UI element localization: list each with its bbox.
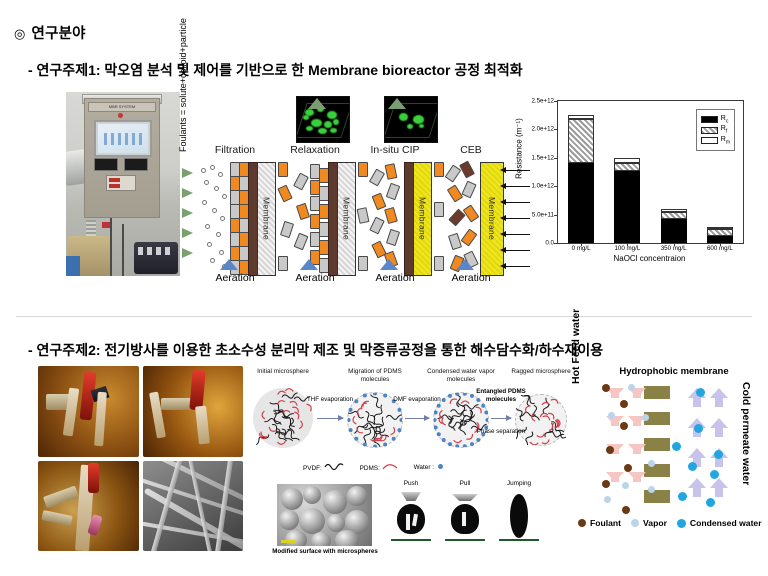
vapor-dot xyxy=(622,482,629,489)
particle-dot xyxy=(207,242,212,247)
pvdf-chain xyxy=(264,417,280,424)
chart-legend-swatch xyxy=(701,137,718,144)
panel-filtration: Filtration xyxy=(196,140,274,300)
pdms-chain xyxy=(307,403,313,411)
aeration-label: Aeration xyxy=(432,272,510,284)
page-title-text: 연구분야 xyxy=(32,26,86,42)
chart-bar-segment-Rm xyxy=(661,209,687,212)
water-molecule-dot xyxy=(397,428,401,432)
condensed-water-dot xyxy=(678,492,687,501)
water-molecule-dot xyxy=(354,437,358,441)
chart-y-tick-mark xyxy=(554,101,558,102)
chart-x-tick-label: 600 mg/L xyxy=(700,245,740,252)
microsphere-particle xyxy=(311,532,331,546)
water-molecule-dot xyxy=(399,418,402,422)
md-legend: Foulant Vapor Condensed water xyxy=(578,518,768,528)
condensed-water-dot xyxy=(706,498,715,507)
foulant-block xyxy=(293,173,309,191)
md-left-label: Hot Feed water xyxy=(570,264,582,384)
foulant-block xyxy=(386,183,401,201)
panel-relaxation: Relaxation xyxy=(276,140,354,300)
foulant-block xyxy=(278,162,288,177)
foulant-block xyxy=(296,203,310,220)
droplet-pull: Pull xyxy=(437,490,493,546)
digital-meter-2 xyxy=(124,158,148,171)
pvdf-chain xyxy=(458,401,468,417)
sem-scale-bar xyxy=(281,540,295,543)
foulant-block xyxy=(280,221,294,238)
microsphere-particle xyxy=(281,488,303,510)
chart-legend: RcRfRm xyxy=(696,109,735,151)
particle-dot xyxy=(205,224,210,229)
panel-title: In-situ CIP xyxy=(356,144,434,156)
droplet-substrate xyxy=(499,539,539,541)
aeration-arrow-icon xyxy=(220,259,238,270)
chart-bar-segment-Rf xyxy=(614,163,640,172)
foulant-dot xyxy=(620,400,628,408)
membrane-label: Membrane xyxy=(337,162,356,276)
chart-legend-label: Rc xyxy=(721,115,729,124)
chart-legend-label: Rf xyxy=(721,125,727,134)
water-molecule-dot xyxy=(448,442,452,446)
chart-y-tick-label: 5.0e+11 xyxy=(532,211,554,218)
cake-layer-column-2 xyxy=(319,162,328,274)
droplet-substrate xyxy=(391,539,431,541)
process-arrow-label-entangled: Entangled PDMS molecules xyxy=(470,388,532,404)
sem-caption: Modified surface with microspheres xyxy=(265,548,385,555)
condensed-water-dot-icon xyxy=(677,519,686,528)
step-caption: Ragged microsphere xyxy=(501,368,581,376)
pdms-chain xyxy=(531,413,535,421)
foulant-block xyxy=(358,256,368,271)
membrane-block xyxy=(644,464,670,477)
foulant-dot xyxy=(624,464,632,472)
cake-layer-column-1 xyxy=(310,162,319,274)
vapor-dot xyxy=(628,384,635,391)
particle-dot xyxy=(220,216,225,221)
water-molecule-dot xyxy=(349,408,353,412)
legend-pvdf: PVDF: xyxy=(303,462,346,472)
aeration-label: Aeration xyxy=(356,272,434,284)
up-arrow-icon xyxy=(308,98,326,109)
water-molecule-dot xyxy=(442,438,446,442)
indicator-led xyxy=(118,113,123,118)
vapor-dot-icon xyxy=(631,519,639,527)
chart-x-tick-label: 0 mg/L xyxy=(561,245,601,252)
water-molecule-dot xyxy=(348,418,351,422)
foulant-dot xyxy=(602,480,610,488)
condensed-water-dot xyxy=(688,462,697,471)
vapor-dot xyxy=(604,496,611,503)
membrane-block xyxy=(644,438,670,451)
pdms-chain xyxy=(441,417,446,425)
feed-flow-arrow xyxy=(182,168,193,178)
md-legend-vapor: Vapor xyxy=(631,518,667,528)
electrospinning-photo-collage xyxy=(38,366,243,551)
aeration-label: Aeration xyxy=(276,272,354,284)
panel-title: CEB xyxy=(432,144,510,156)
pvdf-chain xyxy=(386,415,402,420)
pdms-chain xyxy=(352,416,356,424)
droplet-notch xyxy=(462,512,466,526)
process-arrow xyxy=(491,418,511,419)
water-molecule-dot xyxy=(463,393,467,396)
chart-bar-segment-Rc xyxy=(707,236,733,243)
process-arrow-label: THF evaporation xyxy=(299,396,361,404)
water-molecule-dot xyxy=(455,444,459,447)
switch-block xyxy=(106,175,136,191)
digital-meter-1 xyxy=(94,158,118,171)
hmi-screen-content xyxy=(98,124,148,153)
microsphere-particle xyxy=(303,486,321,504)
md-legend-row: Foulant Vapor Condensed water xyxy=(578,518,768,528)
blue-drum xyxy=(66,256,80,276)
pdms-chain xyxy=(524,405,530,413)
pdms-chain xyxy=(290,400,298,405)
chart-y-tick-mark xyxy=(554,186,558,187)
chart-bar-segment-Rf xyxy=(568,119,594,163)
chart-y-tick-mark xyxy=(554,158,558,159)
condensed-water-dot xyxy=(714,450,723,459)
pdms-chain xyxy=(292,406,300,413)
foulant-dot-icon xyxy=(578,519,586,527)
chart-legend-item: Rc xyxy=(701,115,730,124)
chart-y-tick-label: 2.0e+12 xyxy=(531,126,554,133)
water-molecule-dot xyxy=(476,438,480,442)
surface-and-droplet-row: Modified surface with microspheres Push … xyxy=(265,478,515,560)
foulant-block xyxy=(461,181,476,199)
droplet-notch xyxy=(406,514,410,530)
sem-modified-surface-image xyxy=(277,484,372,546)
process-arrow xyxy=(405,418,429,419)
md-title: Hydrophobic membrane xyxy=(604,366,744,377)
red-cable xyxy=(189,370,205,411)
foulant-block xyxy=(461,228,478,246)
chart-bar-segment-Rm xyxy=(707,227,733,230)
foulant-block xyxy=(277,185,292,203)
water-molecule-dot xyxy=(373,444,377,447)
cake-layer-column-2 xyxy=(239,162,248,274)
biofilm-cluster xyxy=(324,121,332,128)
aeration-label: Aeration xyxy=(196,272,274,284)
chart-x-axis-label: NaOCl concentraion xyxy=(557,254,742,263)
microsphere-formation-mechanism-diagram: Initial microsphere Migration of PDMS mo… xyxy=(243,366,573,478)
chart-x-tick-mark xyxy=(674,243,675,246)
water-molecule-dot xyxy=(349,428,353,432)
foulant-block xyxy=(294,233,309,251)
feed-flow-arrow xyxy=(182,188,193,198)
droplet-label: Push xyxy=(383,480,439,487)
water-molecule-dot xyxy=(383,442,387,446)
water-molecule-dot xyxy=(437,404,441,408)
aeration-arrow-icon xyxy=(456,259,474,270)
pdms-chain xyxy=(542,440,550,445)
step-caption: Migration of PDMS molecules xyxy=(335,368,415,384)
pdms-chain xyxy=(449,397,457,404)
biofilm-cluster xyxy=(407,124,413,129)
water-molecule-dot xyxy=(392,437,396,441)
microsphere-particle xyxy=(335,530,359,546)
vapor-dot xyxy=(648,486,655,493)
process-arrow-label-phase: Phase separation xyxy=(470,428,532,436)
pdms-chain xyxy=(530,442,538,445)
chart-y-tick-label: 1.5e+12 xyxy=(531,154,554,161)
topic2-heading: - 연구주제2: 전기방사를 이용한 초소수성 분리막 제조 및 막증류공정을 … xyxy=(28,340,603,360)
membrane-block xyxy=(644,386,670,399)
water-molecule-dot xyxy=(481,404,485,408)
chart-y-tick-mark xyxy=(554,243,558,244)
water-droplet-shape xyxy=(397,504,425,534)
pdms-chain xyxy=(543,415,551,421)
feed-flow-arrow xyxy=(182,208,193,218)
red-cable xyxy=(88,463,99,493)
droplet-substrate xyxy=(445,539,485,541)
pvdf-squiggle-icon xyxy=(324,462,346,470)
chart-bar-segment-Rf xyxy=(661,212,687,219)
chart-y-tick-mark xyxy=(554,215,558,216)
pvdf-chain xyxy=(450,410,466,415)
up-arrow-icon xyxy=(388,98,406,109)
particle-dot xyxy=(218,172,223,177)
droplet-jumping: Jumping xyxy=(491,490,547,546)
panel-title: Filtration xyxy=(196,144,274,156)
particle-dot xyxy=(216,232,221,237)
pdms-chain xyxy=(357,407,362,415)
biofilm-cluster xyxy=(311,119,322,127)
alligator-clip xyxy=(43,485,79,508)
membrane-block xyxy=(644,490,670,503)
water-molecule-dot xyxy=(363,394,367,398)
md-legend-foulant: Foulant xyxy=(578,518,621,528)
sem-nanofiber-photo xyxy=(143,461,244,552)
chart-x-tick-mark xyxy=(720,243,721,246)
presentation-slide: ◎연구분야 - 연구주제1: 막오염 분석 및 제어를 기반으로 한 Membr… xyxy=(0,0,768,576)
chart-legend-item: Rm xyxy=(701,136,730,145)
foulant-particles-field xyxy=(198,162,228,274)
chart-legend-label: Rm xyxy=(721,136,730,145)
microsphere-particle xyxy=(327,514,345,532)
membrane-label: Membrane xyxy=(257,162,276,276)
water-molecule-dot xyxy=(434,418,437,422)
chart-x-tick-mark xyxy=(627,243,628,246)
foulant-block xyxy=(358,162,368,177)
water-molecule-dot xyxy=(484,411,488,415)
water-molecule-dot xyxy=(434,411,438,415)
pdms-chain xyxy=(551,398,559,404)
water-molecule-dot xyxy=(397,408,401,412)
chart-legend-item: Rf xyxy=(701,125,730,134)
biofilm-cluster xyxy=(333,119,339,125)
probe-tip-icon xyxy=(401,492,421,501)
foulant-block xyxy=(463,204,480,222)
microsphere-particle xyxy=(323,490,347,514)
water-molecule-dot xyxy=(437,432,441,436)
biofilm-cluster xyxy=(318,128,327,134)
microsphere-particle xyxy=(299,508,325,534)
mechanism-legend: PVDF: PDMS: Water : xyxy=(303,462,443,472)
md-legend-condensed: Condensed water xyxy=(677,518,762,528)
pdms-chain xyxy=(391,427,396,435)
step-caption: Condensed water vapor molecules xyxy=(421,368,501,384)
pdms-chain xyxy=(262,411,265,419)
pdms-chain xyxy=(276,399,284,404)
water-droplet-shape xyxy=(510,494,528,538)
particle-dot xyxy=(222,194,227,199)
feed-flow-arrow xyxy=(182,228,193,238)
topic1-heading: - 연구주제1: 막오염 분석 및 제어를 기반으로 한 Membrane bi… xyxy=(28,60,523,80)
chart-x-tick-mark xyxy=(581,243,582,246)
water-molecule-dot xyxy=(363,442,367,446)
foulant-block xyxy=(369,217,385,235)
biofilm-cluster xyxy=(330,128,337,133)
electrospinning-setup-photo-3 xyxy=(38,461,139,552)
chart-plot-area: 0.05.0e+111.0e+121.5e+122.0e+122.5e+120 … xyxy=(557,100,744,244)
water-dot-icon xyxy=(438,464,443,469)
pvdf-chain xyxy=(543,398,551,415)
pvdf-chain xyxy=(361,428,371,444)
section-divider xyxy=(16,316,752,317)
pdms-chain xyxy=(454,440,462,443)
pdms-chain xyxy=(277,390,285,394)
process-arrow xyxy=(317,418,343,419)
pvdf-chain xyxy=(282,393,298,400)
pdms-chain xyxy=(285,388,293,391)
foulant-block xyxy=(434,202,444,217)
panel-nameplate: MBR SYSTEM xyxy=(88,102,156,112)
water-molecule-dot xyxy=(485,418,488,422)
pump-unit xyxy=(134,242,178,274)
foulant-dot xyxy=(622,506,630,514)
foulant-block xyxy=(278,256,288,271)
particle-dot xyxy=(204,180,209,185)
microsphere-particle xyxy=(347,486,367,506)
biofilm-cluster xyxy=(413,115,424,124)
chart-y-tick-label: 0.0 xyxy=(545,240,554,247)
pvdf-chain xyxy=(371,393,382,409)
foulant-block xyxy=(386,229,400,246)
particle-dot xyxy=(202,200,207,205)
chart-bar-segment-Rm xyxy=(568,115,594,119)
particle-dot xyxy=(214,186,219,191)
foulant-dot xyxy=(606,446,614,454)
chart-bar-segment-Rc xyxy=(614,171,640,243)
foulant-block xyxy=(357,207,370,224)
step-caption: Initial microsphere xyxy=(243,368,323,376)
page-title: ◎연구분야 xyxy=(14,22,86,43)
vapor-dot xyxy=(642,414,649,421)
red-valve xyxy=(102,222,110,228)
aeration-arrow-icon xyxy=(380,259,398,270)
vapor-dot xyxy=(648,460,655,467)
foulant-block xyxy=(434,162,444,177)
droplet-label: Jumping xyxy=(491,480,547,487)
foulants-axis-label: Foulants = solute+colloid+particle xyxy=(178,24,192,152)
tubing-2 xyxy=(122,224,124,276)
md-right-label: Cold permeate water xyxy=(740,382,752,512)
condensed-water-dot xyxy=(710,470,719,479)
condensed-water-dot xyxy=(672,442,681,451)
water-molecule-dot xyxy=(434,425,438,429)
chart-y-tick-label: 1.0e+12 xyxy=(531,183,554,190)
biofilm-cluster xyxy=(306,126,313,131)
particle-dot xyxy=(212,208,217,213)
aeration-arrow-icon xyxy=(300,259,318,270)
vapor-dot xyxy=(608,412,615,419)
foulant-block xyxy=(434,256,444,271)
water-molecule-dot xyxy=(448,394,452,398)
legend-pdms: PDMS: xyxy=(360,462,400,472)
pdms-chain xyxy=(294,411,300,419)
chart-x-tick-label: 100 mg/L xyxy=(607,245,647,252)
bullet-ring-icon: ◎ xyxy=(14,26,26,42)
resistance-bar-chart: Resistance (m⁻¹) 0.05.0e+111.0e+121.5e+1… xyxy=(505,92,763,280)
pdms-chain xyxy=(299,421,303,429)
microsphere-particle xyxy=(279,510,299,530)
chart-legend-swatch xyxy=(701,116,718,123)
pdms-chain xyxy=(268,427,276,433)
panel-title: Relaxation xyxy=(276,144,354,156)
membrane-distillation-diagram: Hydrophobic membrane Hot Feed water Cold… xyxy=(576,366,766,562)
water-molecule-dot xyxy=(463,444,467,447)
chart-bar-segment-Rm xyxy=(614,158,640,163)
electrospinning-setup-photo-2 xyxy=(143,366,244,457)
droplet-label: Pull xyxy=(437,480,493,487)
foulant-block xyxy=(459,161,475,179)
chart-y-tick-mark xyxy=(554,129,558,130)
chart-y-axis-label: Resistance (m⁻¹) xyxy=(515,89,524,209)
water-molecule-dot xyxy=(470,442,474,446)
particle-dot xyxy=(201,168,206,173)
membrane-fouling-control-diagram: Foulants = solute+colloid+particle Filtr… xyxy=(180,140,505,300)
chart-bar-segment-Rf xyxy=(707,229,733,236)
particle-dot xyxy=(210,258,215,263)
pvdf-chain xyxy=(363,411,374,427)
foulant-block xyxy=(369,169,385,187)
droplet-push: Push xyxy=(383,490,439,546)
biofilm-cluster xyxy=(303,115,309,120)
syringe-needle xyxy=(195,406,210,445)
probe-tip-icon xyxy=(452,494,478,501)
pdms-chain xyxy=(277,441,285,444)
pdms-chain xyxy=(537,434,545,438)
chart-legend-swatch xyxy=(701,127,718,134)
panel-ceb: CEB Membrane xyxy=(432,140,510,300)
pvdf-chain xyxy=(463,410,475,426)
particle-dot xyxy=(219,250,224,255)
foulant-block xyxy=(385,163,398,180)
particle-dot xyxy=(210,165,215,170)
cake-layer-column-1 xyxy=(230,162,239,274)
foulant-block xyxy=(372,193,387,211)
hmi-touchscreen xyxy=(94,120,152,157)
electrospinning-setup-photo-1 xyxy=(38,366,139,457)
biofilm-cluster xyxy=(327,111,337,119)
chart-bar-segment-Rc xyxy=(568,163,594,243)
membrane-label: Membrane xyxy=(413,162,432,276)
foulant-dot xyxy=(620,422,628,430)
legend-water: Water : xyxy=(414,464,443,471)
pdms-chain xyxy=(461,401,469,404)
foulant-block xyxy=(448,233,462,250)
biofilm-cluster xyxy=(419,124,424,128)
pdms-chain xyxy=(542,402,550,405)
process-arrow-label: DMF evaporation xyxy=(386,396,448,404)
foulant-block xyxy=(384,207,398,224)
microsphere-particle xyxy=(285,530,307,546)
biofilm-cluster xyxy=(399,113,408,121)
mbr-system-photo: MBR SYSTEM xyxy=(66,92,180,276)
chart-x-tick-label: 350 mg/L xyxy=(654,245,694,252)
